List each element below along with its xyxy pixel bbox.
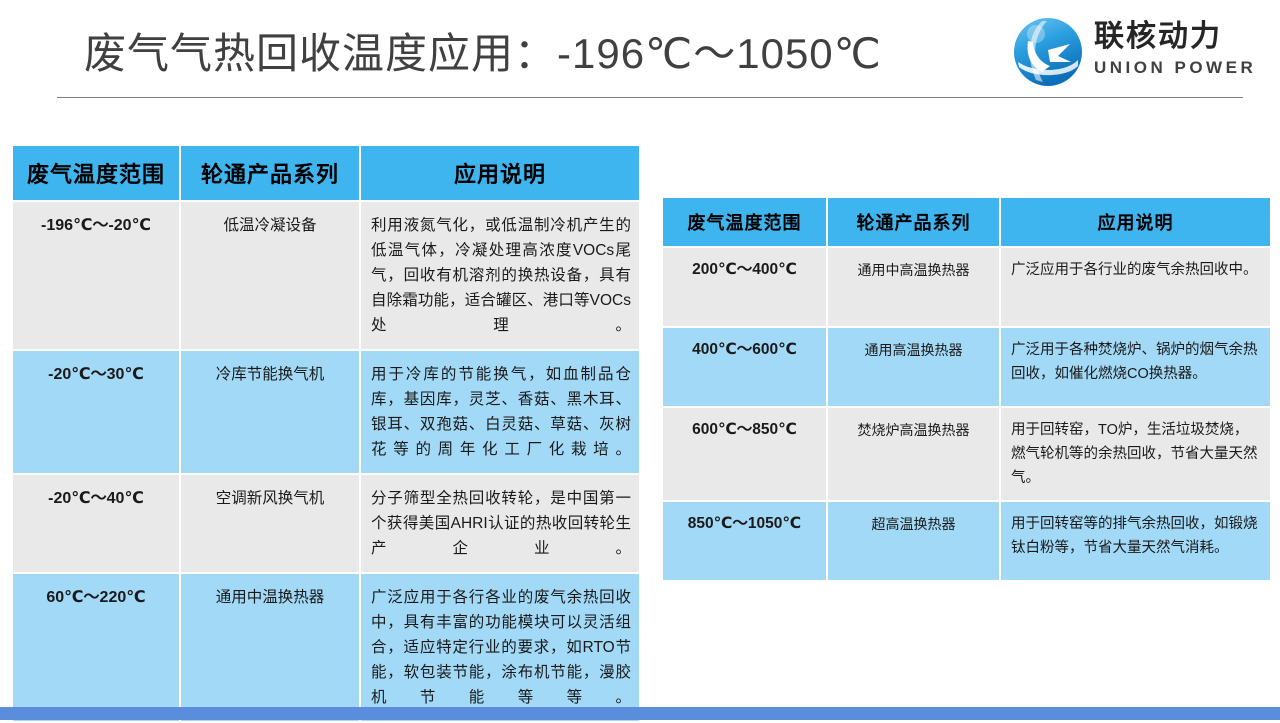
table-row: -20℃～40℃ 空调新风换气机 分子筛型全热回收转轮，是中国第一个获得美国AH… xyxy=(13,475,639,572)
cell-product-series: 通用中高温换热器 xyxy=(828,248,999,326)
table-row: 850℃～1050℃ 超高温换热器 用于回转窑等的排气余热回收，如锻烧钛白粉等，… xyxy=(663,502,1270,580)
cell-application-notes: 用于回转窑等的排气余热回收，如锻烧钛白粉等，节省大量天然气消耗。 xyxy=(1001,502,1270,580)
cell-product-series: 冷库节能换气机 xyxy=(181,351,359,473)
cell-product-series: 焚烧炉高温换热器 xyxy=(828,408,999,500)
column-header-temperature-range: 废气温度范围 xyxy=(663,198,826,246)
table-row: 200℃～400℃ 通用中高温换热器 广泛应用于各行业的废气余热回收中。 xyxy=(663,248,1270,326)
logo-text-block: 联核动力 UNION POWER xyxy=(1094,20,1264,79)
logo-name-en: UNION POWER xyxy=(1094,57,1264,79)
cell-temperature-range: 400℃～600℃ xyxy=(663,328,826,406)
cell-product-series: 通用中温换热器 xyxy=(181,574,359,721)
waste-gas-table-right: 废气温度范围 轮通产品系列 应用说明 200℃～400℃ 通用中高温换热器 广泛… xyxy=(661,196,1272,582)
globe-bird-logo-icon xyxy=(1012,16,1084,88)
column-header-application-notes: 应用说明 xyxy=(361,146,639,200)
table-right-body: 200℃～400℃ 通用中高温换热器 广泛应用于各行业的废气余热回收中。 400… xyxy=(663,248,1270,580)
table-right-header-row: 废气温度范围 轮通产品系列 应用说明 xyxy=(663,198,1270,246)
table-left-head: 废气温度范围 轮通产品系列 应用说明 xyxy=(13,146,639,200)
table-row: 60℃～220℃ 通用中温换热器 广泛应用于各行各业的废气余热回收中，具有丰富的… xyxy=(13,574,639,721)
column-header-product-series: 轮通产品系列 xyxy=(828,198,999,246)
table-left-header-row: 废气温度范围 轮通产品系列 应用说明 xyxy=(13,146,639,200)
cell-application-notes: 用于冷库的节能换气，如血制品仓库，基因库，灵芝、香菇、黑木耳、银耳、双孢菇、白灵… xyxy=(361,351,639,473)
cell-application-notes: 用于回转窑，TO炉，生活垃圾焚烧，燃气轮机等的余热回收，节省大量天然气。 xyxy=(1001,408,1270,500)
cell-temperature-range: -20℃～40℃ xyxy=(13,475,179,572)
cell-temperature-range: 200℃～400℃ xyxy=(663,248,826,326)
cell-temperature-range: -20℃～30℃ xyxy=(13,351,179,473)
table-row: -20℃～30℃ 冷库节能换气机 用于冷库的节能换气，如血制品仓库，基因库，灵芝… xyxy=(13,351,639,473)
footer-accent-bar xyxy=(0,707,1280,720)
brand-logo: 联核动力 UNION POWER xyxy=(1012,14,1264,88)
cell-product-series: 空调新风换气机 xyxy=(181,475,359,572)
cell-application-notes: 广泛应用于各行各业的废气余热回收中，具有丰富的功能模块可以灵活组合，适应特定行业… xyxy=(361,574,639,721)
table-left-body: -196℃～-20℃ 低温冷凝设备 利用液氮气化，或低温制冷机产生的低温气体，冷… xyxy=(13,202,639,721)
page-title: 废气气热回收温度应用：-196℃～1050℃ xyxy=(84,26,882,82)
logo-name-cn: 联核动力 xyxy=(1094,20,1264,54)
table-row: 400℃～600℃ 通用高温换热器 广泛用于各种焚烧炉、锅炉的烟气余热回收，如催… xyxy=(663,328,1270,406)
cell-temperature-range: 600℃～850℃ xyxy=(663,408,826,500)
cell-product-series: 超高温换热器 xyxy=(828,502,999,580)
cell-application-notes: 广泛应用于各行业的废气余热回收中。 xyxy=(1001,248,1270,326)
cell-temperature-range: 60℃～220℃ xyxy=(13,574,179,721)
cell-application-notes: 分子筛型全热回收转轮，是中国第一个获得美国AHRI认证的热收回转轮生产企业。 xyxy=(361,475,639,572)
column-header-application-notes: 应用说明 xyxy=(1001,198,1270,246)
cell-temperature-range: -196℃～-20℃ xyxy=(13,202,179,349)
column-header-product-series: 轮通产品系列 xyxy=(181,146,359,200)
waste-gas-table-left: 废气温度范围 轮通产品系列 应用说明 -196℃～-20℃ 低温冷凝设备 利用液… xyxy=(11,144,641,723)
column-header-temperature-range: 废气温度范围 xyxy=(13,146,179,200)
cell-product-series: 低温冷凝设备 xyxy=(181,202,359,349)
table-row: -196℃～-20℃ 低温冷凝设备 利用液氮气化，或低温制冷机产生的低温气体，冷… xyxy=(13,202,639,349)
header-divider xyxy=(57,97,1243,98)
cell-temperature-range: 850℃～1050℃ xyxy=(663,502,826,580)
cell-application-notes: 利用液氮气化，或低温制冷机产生的低温气体，冷凝处理高浓度VOCs尾气，回收有机溶… xyxy=(361,202,639,349)
table-row: 600℃～850℃ 焚烧炉高温换热器 用于回转窑，TO炉，生活垃圾焚烧，燃气轮机… xyxy=(663,408,1270,500)
table-right-head: 废气温度范围 轮通产品系列 应用说明 xyxy=(663,198,1270,246)
cell-product-series: 通用高温换热器 xyxy=(828,328,999,406)
slide-header: 废气气热回收温度应用：-196℃～1050℃ xyxy=(0,0,1280,105)
cell-application-notes: 广泛用于各种焚烧炉、锅炉的烟气余热回收，如催化燃烧CO换热器。 xyxy=(1001,328,1270,406)
